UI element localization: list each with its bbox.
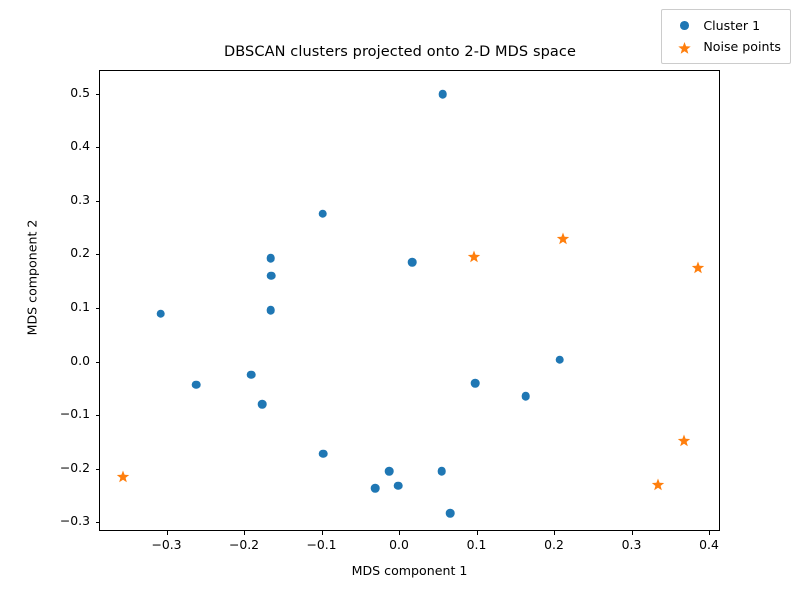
noise-star-icon bbox=[669, 40, 699, 53]
cluster-point-marker bbox=[521, 392, 530, 401]
noise-point-marker bbox=[467, 249, 480, 262]
x-tick-label: 0.3 bbox=[597, 537, 667, 552]
scatter-plot-figure: DBSCAN clusters projected onto 2-D MDS s… bbox=[0, 0, 800, 600]
x-tick-mark bbox=[477, 531, 478, 535]
x-tick-mark bbox=[167, 531, 168, 535]
y-tick-label: 0.5 bbox=[20, 85, 90, 100]
cluster-point-marker bbox=[371, 484, 380, 493]
plot-area bbox=[99, 70, 720, 531]
x-tick-label: −0.3 bbox=[132, 537, 202, 552]
x-tick-mark bbox=[709, 531, 710, 535]
y-tick-mark bbox=[96, 254, 100, 255]
y-tick-label: 0.4 bbox=[20, 138, 90, 153]
x-tick-label: 0.4 bbox=[674, 537, 744, 552]
y-tick-mark bbox=[96, 147, 100, 148]
cluster-point-marker bbox=[471, 379, 480, 388]
x-tick-label: 0.2 bbox=[519, 537, 589, 552]
y-tick-label: −0.2 bbox=[20, 460, 90, 475]
cluster-point-marker bbox=[394, 482, 403, 491]
y-axis-label: MDS component 2 bbox=[25, 188, 40, 368]
y-tick-label: −0.1 bbox=[20, 406, 90, 421]
cluster-point-marker bbox=[318, 209, 327, 218]
x-tick-label: 0.0 bbox=[364, 537, 434, 552]
y-tick-mark bbox=[96, 362, 100, 363]
x-tick-mark bbox=[554, 531, 555, 535]
x-tick-label: −0.2 bbox=[209, 537, 279, 552]
y-tick-mark bbox=[96, 94, 100, 95]
cluster-point-marker bbox=[156, 310, 165, 319]
cluster-point-marker bbox=[385, 467, 394, 476]
noise-point-marker bbox=[691, 259, 704, 272]
legend-label-noise: Noise points bbox=[699, 39, 781, 54]
cluster-point-marker bbox=[438, 467, 447, 476]
cluster-point-marker bbox=[319, 449, 328, 458]
noise-point-marker bbox=[556, 230, 569, 243]
y-tick-mark bbox=[96, 308, 100, 309]
cluster-point-marker bbox=[192, 380, 201, 389]
y-tick-mark bbox=[96, 522, 100, 523]
noise-point-marker bbox=[652, 476, 665, 489]
noise-point-marker bbox=[678, 432, 691, 445]
legend-item-noise[interactable]: Noise points bbox=[669, 36, 781, 57]
cluster-point-marker bbox=[438, 90, 447, 99]
legend-item-cluster[interactable]: Cluster 1 bbox=[669, 15, 781, 36]
cluster-point-marker bbox=[555, 356, 564, 365]
cluster-point-marker bbox=[267, 271, 276, 280]
x-tick-mark bbox=[399, 531, 400, 535]
data-points-layer bbox=[100, 71, 719, 530]
x-tick-mark bbox=[322, 531, 323, 535]
y-tick-label: −0.3 bbox=[20, 513, 90, 528]
y-tick-mark bbox=[96, 201, 100, 202]
x-axis-label: MDS component 1 bbox=[99, 563, 720, 578]
x-tick-mark bbox=[632, 531, 633, 535]
cluster-point-marker bbox=[266, 306, 275, 315]
y-tick-mark bbox=[96, 415, 100, 416]
cluster-point-marker bbox=[258, 400, 267, 409]
legend-label-cluster: Cluster 1 bbox=[699, 18, 760, 33]
cluster-point-marker bbox=[247, 371, 256, 380]
x-tick-label: 0.1 bbox=[442, 537, 512, 552]
cluster-point-marker bbox=[446, 509, 455, 518]
noise-point-marker bbox=[116, 468, 129, 481]
cluster-circle-icon bbox=[669, 21, 699, 30]
x-tick-mark bbox=[244, 531, 245, 535]
cluster-point-marker bbox=[408, 258, 417, 267]
x-tick-label: −0.1 bbox=[287, 537, 357, 552]
legend: Cluster 1 Noise points bbox=[661, 9, 791, 64]
cluster-point-marker bbox=[266, 254, 275, 263]
y-tick-mark bbox=[96, 469, 100, 470]
